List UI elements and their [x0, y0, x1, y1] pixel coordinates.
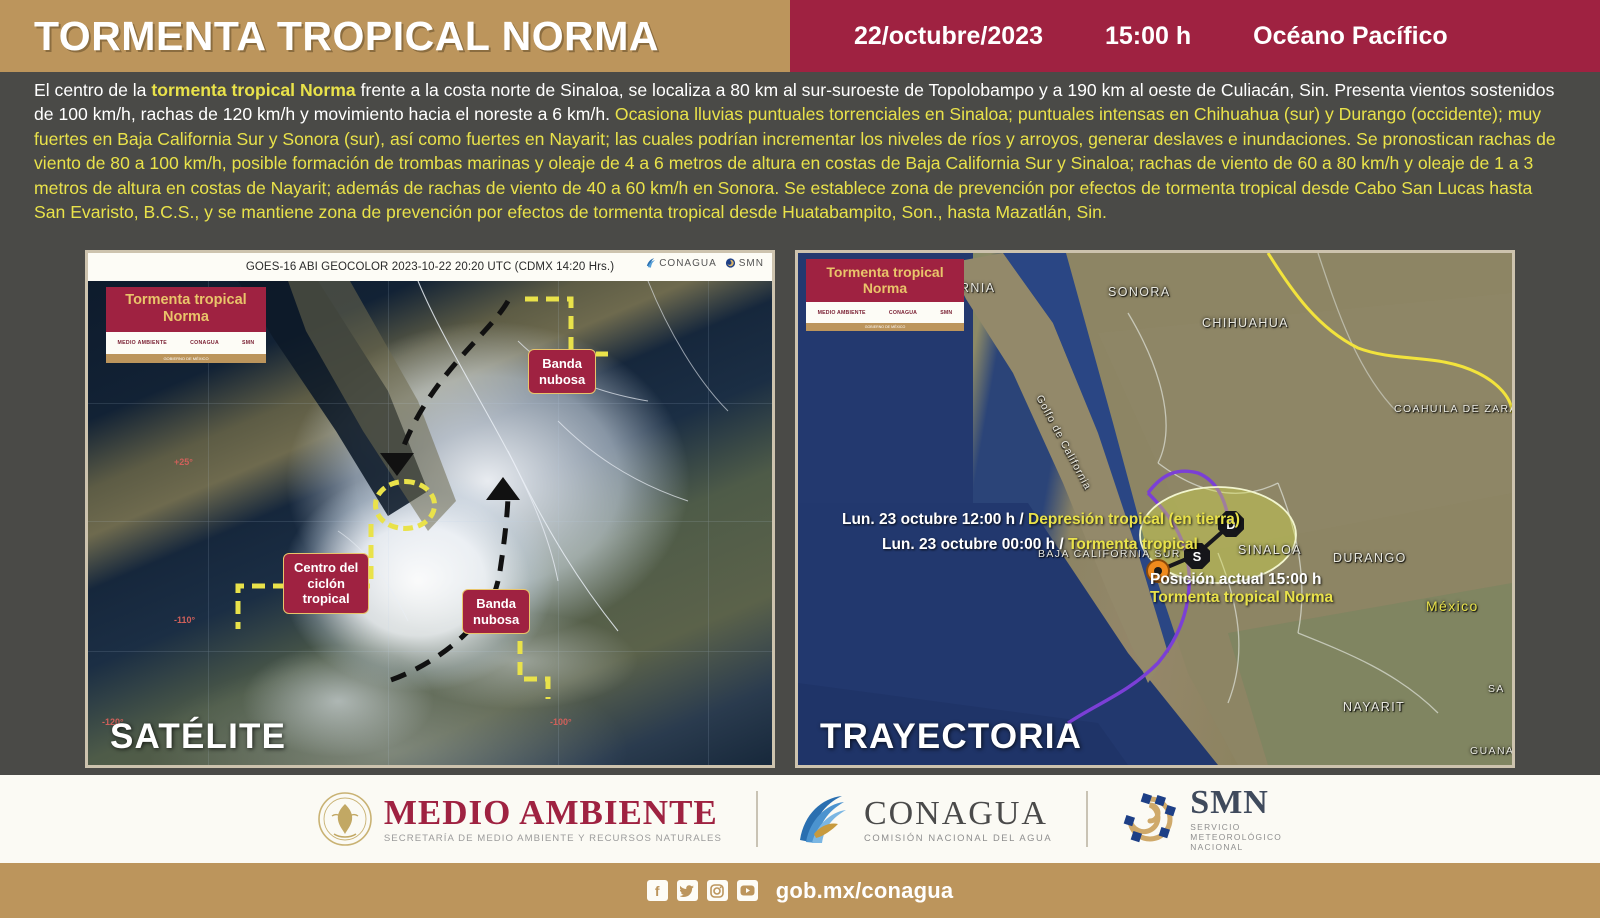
- satellite-source-strip: GOES-16 ABI GEOCOLOR 2023-10-22 20:20 UT…: [88, 253, 772, 281]
- satellite-badge-line1: Tormenta tropical: [110, 292, 262, 309]
- trajectory-badge: Tormenta tropical Norma MEDIO AMBIENTE C…: [806, 259, 964, 331]
- annotation-current-position: Posición actual 15:00 h Tormenta tropica…: [1150, 571, 1333, 607]
- map-label-rnia: RNIA: [960, 281, 995, 295]
- footer-divider-1: [756, 791, 758, 847]
- footer-logos: MEDIO AMBIENTE SECRETARÍA DE MEDIO AMBIE…: [0, 775, 1600, 863]
- conagua-logo-block: CONAGUA COMISIÓN NACIONAL DEL AGUA: [792, 792, 1052, 846]
- summary-seg-1: El centro de la: [34, 80, 151, 100]
- twitter-bird-glyph: [680, 885, 694, 897]
- header-basin: Océano Pacífico: [1253, 22, 1448, 51]
- satellite-badge-bar: GOBIERNO DE MÉXICO: [106, 354, 266, 363]
- medio-ambiente-logo-block: MEDIO AMBIENTE SECRETARÍA DE MEDIO AMBIE…: [318, 790, 722, 848]
- conagua-mini-label: CONAGUA: [659, 258, 717, 269]
- satellite-badge: Tormenta tropical Norma MEDIO AMBIENTE C…: [106, 287, 266, 363]
- annotation-forecast-12h-time: Lun. 23 octubre 12:00 h /: [842, 511, 1028, 528]
- callout-centro-ciclon: Centro del ciclón tropical: [283, 553, 369, 614]
- instagram-camera-glyph: [710, 884, 724, 898]
- footer-divider-2: [1086, 791, 1088, 847]
- satellite-panel[interactable]: GOES-16 ABI GEOCOLOR 2023-10-22 20:20 UT…: [85, 250, 775, 768]
- annotation-current-position-name: Tormenta tropical Norma: [1150, 589, 1333, 607]
- trajectory-badge-org3: SMN: [940, 310, 952, 316]
- website-url[interactable]: gob.mx/conagua: [776, 878, 954, 904]
- mexican-coat-of-arms-icon: [318, 790, 372, 848]
- annotation-forecast-12h: Lun. 23 octubre 12:00 h / Depresión trop…: [842, 511, 1240, 529]
- panels-row: GOES-16 ABI GEOCOLOR 2023-10-22 20:20 UT…: [0, 250, 1600, 770]
- medio-ambiente-text: MEDIO AMBIENTE SECRETARÍA DE MEDIO AMBIE…: [384, 795, 722, 844]
- map-label-mexico: México: [1426, 598, 1479, 614]
- youtube-icon[interactable]: [737, 880, 758, 901]
- arrow-down-icon: [380, 453, 414, 476]
- spiral-icon: [725, 257, 736, 269]
- medio-ambiente-subtitle: SECRETARÍA DE MEDIO AMBIENTE Y RECURSOS …: [384, 833, 722, 844]
- map-label-guana: GUANA: [1470, 745, 1514, 757]
- map-label-durango: DURANGO: [1333, 551, 1407, 565]
- trajectory-badge-org1: MEDIO AMBIENTE: [818, 310, 866, 316]
- smn-text: SMN SERVICIO METEOROLÓGICO NACIONAL: [1190, 786, 1282, 852]
- conagua-mini-logo: CONAGUA: [645, 257, 717, 269]
- trajectory-badge-line1: Tormenta tropical: [810, 264, 960, 280]
- smn-mini-label: SMN: [739, 258, 764, 269]
- conagua-title: CONAGUA: [864, 796, 1052, 831]
- satellite-strip-logos: CONAGUA SMN: [645, 257, 764, 269]
- facebook-icon[interactable]: f: [647, 880, 668, 901]
- trajectory-badge-logos: MEDIO AMBIENTE CONAGUA SMN: [806, 302, 964, 323]
- callout-banda-nubosa-ne: Banda nubosa: [528, 349, 596, 394]
- conagua-text: CONAGUA COMISIÓN NACIONAL DEL AGUA: [864, 796, 1052, 843]
- map-label-sonora: SONORA: [1108, 285, 1171, 299]
- trajectory-badge-line2: Norma: [810, 280, 960, 296]
- satellite-badge-line2: Norma: [110, 309, 262, 326]
- trajectory-panel-label: TRAYECTORIA: [820, 717, 1082, 757]
- header-date: 22/octubre/2023: [854, 22, 1043, 51]
- smn-mini-logo: SMN: [725, 257, 764, 269]
- instagram-icon[interactable]: [707, 880, 728, 901]
- conagua-subtitle: COMISIÓN NACIONAL DEL AGUA: [864, 832, 1052, 843]
- satellite-badge-org1: MEDIO AMBIENTE: [118, 340, 168, 346]
- trajectory-badge-org2: CONAGUA: [889, 310, 917, 316]
- satellite-badge-logos: MEDIO AMBIENTE CONAGUA SMN: [106, 332, 266, 354]
- map-label-sinaloa: SINALOA: [1238, 543, 1302, 557]
- smn-title: SMN: [1190, 786, 1282, 820]
- trajectory-badge-bar: GOBIERNO DE MÉXICO: [806, 323, 964, 331]
- annotation-forecast-00h-time: Lun. 23 octubre 00:00 h /: [882, 536, 1068, 553]
- trajectory-panel[interactable]: S D RNIA SONORA CHIHUAHUA COAHUILA DE ZA…: [795, 250, 1515, 768]
- header: TORMENTA TROPICAL NORMA 22/octubre/2023 …: [0, 0, 1600, 72]
- map-label-nayarit: NAYARIT: [1343, 700, 1405, 714]
- annotation-forecast-00h: Lun. 23 octubre 00:00 h / Tormenta tropi…: [882, 536, 1198, 554]
- annotation-forecast-00h-class: Tormenta tropical: [1068, 536, 1198, 553]
- satellite-badge-org3: SMN: [242, 340, 254, 346]
- cyclone-center-ring: [373, 479, 437, 531]
- satellite-source-text: GOES-16 ABI GEOCOLOR 2023-10-22 20:20 UT…: [246, 261, 614, 273]
- smn-logo-block: SMN SERVICIO METEOROLÓGICO NACIONAL: [1122, 786, 1282, 852]
- annotation-forecast-12h-class: Depresión tropical (en tierra): [1028, 511, 1240, 528]
- water-drop-icon: [645, 257, 656, 269]
- smn-spiral-icon: [1122, 792, 1178, 846]
- trajectory-badge-title: Tormenta tropical Norma: [806, 259, 964, 302]
- map-label-chihuahua: CHIHUAHUA: [1202, 316, 1289, 330]
- header-title-band: TORMENTA TROPICAL NORMA: [0, 0, 790, 72]
- satellite-panel-label: SATÉLITE: [110, 717, 286, 757]
- map-label-sa: SA: [1488, 683, 1505, 695]
- annotation-current-position-time: Posición actual 15:00 h: [1150, 571, 1333, 589]
- twitter-icon[interactable]: [677, 880, 698, 901]
- header-time: 15:00 h: [1105, 22, 1191, 51]
- medio-ambiente-title: MEDIO AMBIENTE: [384, 795, 722, 831]
- summary-text: El centro de la tormenta tropical Norma …: [34, 78, 1568, 224]
- summary-storm-name: tormenta tropical Norma: [151, 80, 355, 100]
- page-title: TORMENTA TROPICAL NORMA: [34, 13, 659, 60]
- youtube-play-glyph: [740, 885, 755, 896]
- map-label-coahuila: COAHUILA DE ZARA: [1394, 403, 1515, 415]
- satellite-badge-title: Tormenta tropical Norma: [106, 287, 266, 332]
- satellite-badge-org2: CONAGUA: [190, 340, 219, 346]
- callout-banda-nubosa-se: Banda nubosa: [462, 589, 530, 634]
- arrow-up-icon: [486, 477, 520, 500]
- infographic-page: TORMENTA TROPICAL NORMA 22/octubre/2023 …: [0, 0, 1600, 918]
- smn-subtitle: SERVICIO METEOROLÓGICO NACIONAL: [1190, 822, 1282, 852]
- conagua-wave-icon: [792, 792, 852, 846]
- social-bar: f gob.mx/conagua: [0, 863, 1600, 918]
- header-meta-band: 22/octubre/2023 15:00 h Océano Pacífico: [790, 0, 1600, 72]
